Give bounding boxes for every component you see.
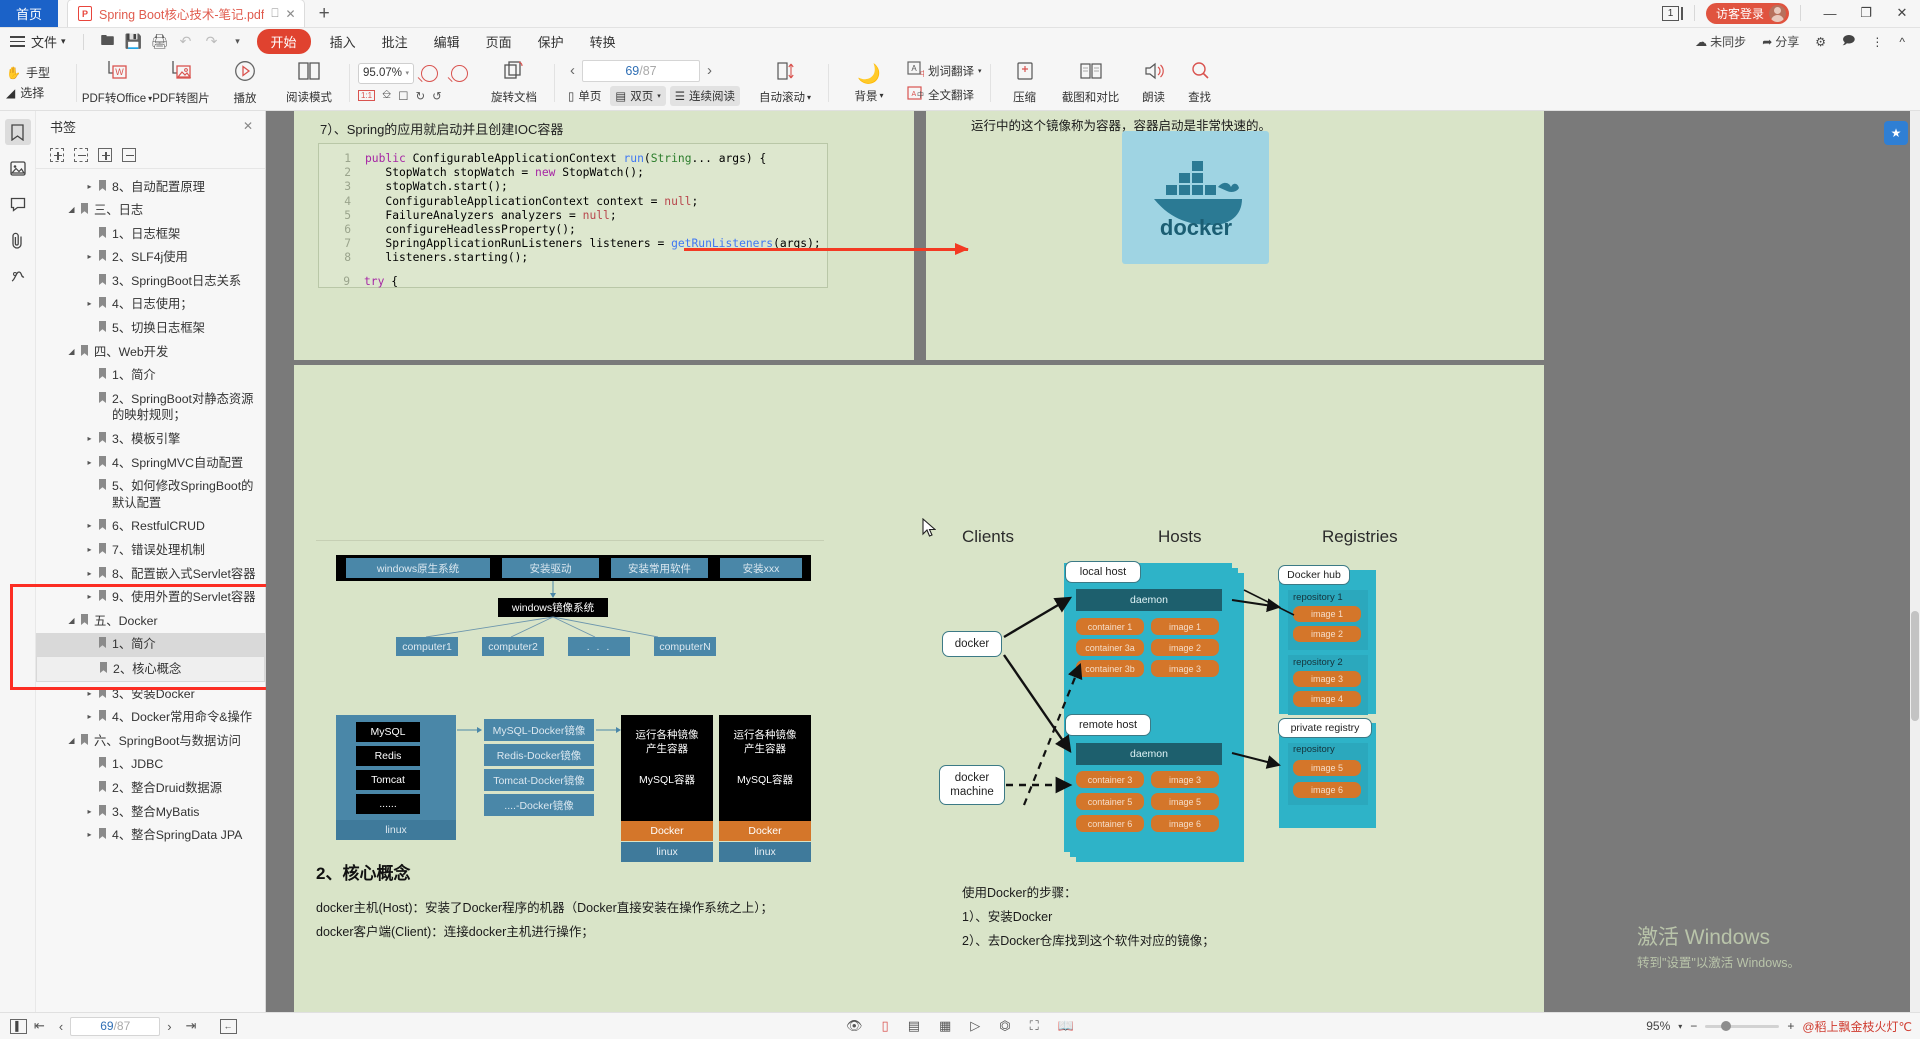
zoom-out-icon[interactable] (421, 65, 438, 82)
read-mode-label: 阅读模式 (286, 89, 332, 105)
bookmark-flag-icon (80, 203, 91, 216)
no-triangle (84, 320, 95, 323)
reading-icon[interactable]: 📖 (1051, 1018, 1081, 1034)
play-label: 播放 (234, 90, 257, 106)
svg-text:W: W (115, 67, 124, 77)
bookmark-flag-icon (98, 274, 109, 287)
step-2: 2）、去Docker仓库找到这个软件对应的镜像； (962, 930, 1215, 949)
code-block: 1public ConfigurableApplicationContext r… (318, 143, 828, 288)
divider (990, 64, 991, 102)
rail-bookmark-icon[interactable] (5, 119, 31, 145)
container-box-1-sub: MySQL容器 (621, 756, 713, 787)
word-translate-icon: A中 (907, 61, 924, 80)
bookmark-item[interactable]: ◢六、SpringBoot与数据访问 (36, 729, 265, 753)
arch-local-image-2: image 2 (1151, 639, 1219, 656)
hand-tool[interactable]: ✋ 手型 (6, 64, 50, 81)
divider (76, 64, 77, 102)
arch-remote-container-6: container 6 (1076, 815, 1144, 832)
search-icon (1188, 60, 1212, 87)
bookmark-flag-icon (98, 297, 109, 310)
expand-triangle-icon[interactable]: ▸ (84, 249, 95, 263)
double-page-mode[interactable]: ▤ 双页 ▾ (610, 86, 665, 106)
home-tab[interactable]: 首页 (0, 0, 58, 27)
vertical-scrollbar[interactable] (1910, 111, 1920, 1012)
single-page-icon: ▯ (568, 89, 574, 103)
arch-local-image-1: image 1 (1151, 618, 1219, 635)
redo-icon[interactable]: ↷ (199, 31, 225, 53)
rotate-document-icon (501, 60, 527, 87)
quick-access-chevron-icon[interactable]: ▾ (225, 31, 251, 53)
collapse-triangle-icon[interactable]: ◢ (66, 613, 77, 627)
sync-status[interactable]: ☁ 未同步 (1688, 33, 1753, 50)
tab-count-badge[interactable]: 1 (1662, 6, 1679, 21)
ai-assistant-button[interactable]: ★ (1884, 121, 1908, 145)
sync-status-label: 未同步 (1710, 33, 1746, 50)
chevron-down-icon[interactable]: ▾ (1678, 1022, 1682, 1031)
guest-login-button[interactable]: 访客登录 (1706, 3, 1789, 24)
find-button[interactable]: 查找 (1177, 60, 1223, 105)
bookmark-flag-icon (98, 479, 109, 492)
fit-width-icon[interactable]: ☐ (398, 89, 408, 103)
undo-icon[interactable]: ↶ (173, 31, 199, 53)
bookmark-panel-title: 书签 (50, 117, 76, 136)
arch-local-image-3: image 3 (1151, 660, 1219, 677)
bookmark-flag-icon (80, 734, 91, 747)
continuous-label: 连续阅读 (689, 88, 735, 104)
rotate-left-icon[interactable]: ↻ (416, 89, 426, 103)
expand-triangle-icon[interactable]: ▸ (84, 455, 95, 469)
bookmark-flag-icon (99, 662, 110, 675)
fit-mode-group: 1:1 ⎒ ☐ ↻ ↺ (358, 89, 468, 103)
diagram-divider (316, 540, 824, 541)
arch-local-host-label: local host (1065, 561, 1141, 583)
double-page-icon: ▤ (615, 89, 626, 103)
bookmark-flag-icon (98, 781, 109, 794)
no-triangle (84, 226, 95, 229)
bookmark-item[interactable]: 2、整合Druid数据源 (36, 776, 265, 800)
bookmark-label: 2、SLF4j使用 (112, 249, 259, 266)
page-current: 69 (625, 64, 639, 78)
expand-triangle-icon[interactable]: ▸ (84, 179, 95, 193)
diagram-box-install-xxx: 安装xxx (720, 558, 802, 578)
pdf-to-office-button[interactable]: W PDF转Office▾ (85, 59, 149, 106)
arch-remote-image-3: image 3 (1151, 771, 1219, 788)
bookmark-item[interactable]: 5、如何修改SpringBoot的默认配置 (36, 475, 265, 515)
arch-repo-2-image-4: image 4 (1293, 691, 1361, 707)
prev-page-button[interactable]: ‹ (52, 1019, 70, 1034)
bookmark-label: 4、日志使用； (112, 296, 259, 313)
diagram-box-install-software: 安装常用软件 (611, 558, 708, 578)
bookmark-item[interactable]: ▸2、SLF4j使用 (36, 246, 265, 270)
arch-client-docker-machine-l2: machine (950, 785, 993, 799)
bookmark-item[interactable]: ▸4、Docker常用命令&操作 (36, 706, 265, 730)
tab-insert[interactable]: 插入 (317, 32, 369, 51)
expand-triangle-icon[interactable]: ▸ (84, 589, 95, 603)
diagram-container-box-1: 运行各种镜像产生容器 MySQL容器 (621, 715, 713, 821)
tab-protect[interactable]: 保护 (525, 32, 577, 51)
tab-annotate[interactable]: 批注 (369, 32, 421, 51)
red-annotation-arrow (684, 248, 968, 251)
bookmark-label: 5、切换日志框架 (112, 320, 259, 337)
bookmark-item[interactable]: ▸4、整合SpringData JPA (36, 824, 265, 848)
bookmark-label: 1、简介 (112, 367, 259, 384)
bookmark-label: 1、JDBC (112, 756, 259, 773)
close-panel-icon[interactable]: ✕ (243, 119, 253, 133)
page-number-input[interactable]: 69 /87 (582, 60, 700, 82)
container-box-1-docker: Docker (621, 821, 713, 841)
read-mode-button[interactable]: 阅读模式 (277, 60, 341, 105)
diagram-stack-linux-label: linux (336, 820, 456, 840)
full-translate-label: 全文翻译 (928, 87, 974, 103)
bookmark-item[interactable]: 1、简介 (36, 633, 265, 657)
select-tool[interactable]: ◢ 选择 (6, 84, 44, 101)
auto-scroll-button[interactable]: 自动滚动▾ (750, 60, 820, 105)
auto-scroll-label: 自动滚动▾ (759, 89, 811, 105)
pdf-page-main: windows原生系统 安装驱动 安装常用软件 安装xxx windows镜像系… (294, 365, 1544, 1012)
add-bookmark-icon[interactable] (98, 148, 112, 162)
feedback-icon[interactable]: 🗩 (1835, 31, 1862, 52)
status-page-input[interactable]: 69 /87 (70, 1017, 160, 1036)
arch-private-registry-label: private registry (1278, 718, 1372, 738)
double-page-view-icon[interactable]: ▤ (901, 1018, 927, 1034)
bookmark-label: 4、整合SpringData JPA (112, 827, 259, 844)
expand-triangle-icon[interactable]: ▸ (84, 827, 95, 841)
zoom-in-button[interactable]: + (1787, 1019, 1794, 1033)
first-page-button[interactable]: ⇤ (27, 1018, 52, 1034)
avatar (1769, 5, 1786, 22)
diagram-box-computer2: computer2 (482, 637, 544, 656)
code-line: 4 ConfigurableApplicationContext context… (325, 195, 827, 209)
no-triangle (84, 367, 95, 370)
single-page-mode[interactable]: ▯ 单页 (563, 86, 606, 106)
monitor-icon[interactable]: ⎕ (271, 6, 278, 21)
expand-triangle-icon[interactable]: ▸ (84, 518, 95, 532)
chevron-down-icon: ▾ (657, 92, 661, 100)
bookmark-item[interactable]: ▸7、错误处理机制 (36, 539, 265, 563)
open-folder-icon[interactable]: 🖿 (95, 31, 121, 53)
docker-logo-text: docker (1159, 215, 1232, 237)
find-label: 查找 (1188, 89, 1211, 105)
more-options-icon[interactable]: ⋮ (1864, 35, 1890, 49)
menu-bar: 文件 ▾ 🖿 💾 🖨 ↶ ↷ ▾ 开始 插入 批注 编辑 页面 保护 转换 ☁ … (0, 28, 1920, 55)
arch-repo-3-label: repository (1293, 744, 1335, 755)
page-view-modes: ▯ 单页 ▤ 双页 ▾ ☰ 连续阅读 (563, 86, 740, 106)
bookmark-label: 6、RestfulCRUD (112, 518, 259, 535)
presentation-icon[interactable]: ▷ (963, 1018, 987, 1034)
full-translate-icon: A中 (907, 86, 924, 104)
diagram-stack-mysql: MySQL (356, 722, 420, 742)
collapse-all-icon[interactable] (74, 148, 88, 162)
menu-hamburger-icon[interactable] (10, 36, 25, 47)
read-aloud-label: 朗读 (1142, 89, 1165, 105)
arch-col-registries: Registries (1322, 527, 1398, 547)
scrollbar-thumb[interactable] (1911, 611, 1919, 721)
new-tab-button[interactable]: + (319, 3, 330, 27)
bookmark-item[interactable]: ▸4、日志使用； (36, 293, 265, 317)
previous-page-button[interactable]: ‹ (563, 62, 582, 79)
bookmark-item[interactable]: 3、SpringBoot日志关系 (36, 269, 265, 293)
close-window-button[interactable]: ✕ (1884, 0, 1920, 27)
bookmark-panel: 书签 ✕ ▸8、自动配置原理◢三、日志1、日志框架▸2、SLF4j使用3、Spr… (36, 111, 266, 1012)
back-navigation-icon[interactable]: ← (220, 1019, 237, 1034)
bookmark-flag-icon (98, 180, 109, 193)
speaker-icon (1142, 60, 1166, 87)
background-label: 背景▾ (855, 88, 884, 104)
full-translate-button[interactable]: A中 全文翻译 (907, 86, 982, 104)
next-page-button[interactable]: › (700, 62, 719, 79)
bookmark-label: 2、SpringBoot对静态资源的映射规则； (112, 391, 259, 424)
bookmark-flag-icon (80, 345, 91, 358)
divider (828, 64, 829, 102)
bookmark-toolbar (36, 141, 265, 169)
bookmark-item[interactable]: ▸6、RestfulCRUD (36, 515, 265, 539)
no-triangle (84, 478, 95, 481)
title-bar: 首页 P Spring Boot核心技术-笔记.pdf ⎕ ✕ + 1 访客登录… (0, 0, 1920, 28)
arch-repo-3-image-6: image 6 (1293, 782, 1361, 798)
collapse-ribbon-icon[interactable]: ^ (1892, 35, 1912, 49)
expand-triangle-icon[interactable]: ▸ (84, 804, 95, 818)
main-toolbar: ✋ 手型 ◢ 选择 W PDF转Office▾ PDF转图片 播放 阅读模式 (0, 55, 1920, 111)
eye-view-icon[interactable]: 👁 (839, 1018, 870, 1034)
read-aloud-button[interactable]: 朗读 (1131, 60, 1177, 105)
pdf-file-icon: P (78, 6, 92, 21)
svg-text:中: 中 (920, 69, 924, 77)
diagram-box-computer1: computer1 (396, 637, 458, 656)
tab-page[interactable]: 页面 (473, 32, 525, 51)
zoom-level-value: 95.07% (363, 67, 402, 79)
bookmark-label: 1、简介 (112, 636, 259, 653)
bookmark-flag-icon (98, 757, 109, 770)
share-button[interactable]: ➦ 分享 (1755, 33, 1806, 50)
bookmark-item[interactable]: ▸4、SpringMVC自动配置 (36, 451, 265, 475)
play-button[interactable]: 播放 (213, 59, 277, 106)
bookmark-flag-icon (98, 250, 109, 263)
expand-triangle-icon[interactable]: ▸ (84, 431, 95, 445)
rail-signature-icon[interactable] (5, 263, 31, 289)
bookmark-label: 4、Docker常用命令&操作 (112, 709, 259, 726)
bookmark-item[interactable]: ◢五、Docker (36, 609, 265, 633)
bookmark-item[interactable]: 2、SpringBoot对静态资源的映射规则； (36, 387, 265, 427)
status-zoom-value[interactable]: 95% (1646, 1019, 1670, 1033)
bookmark-item[interactable]: 1、JDBC (36, 753, 265, 777)
collapse-triangle-icon[interactable]: ◢ (66, 733, 77, 747)
diagram-image-redis: Redis-Docker镜像 (484, 744, 594, 766)
expand-triangle-icon[interactable]: ▸ (84, 296, 95, 310)
paragraph-docker-client: docker客户端(Client)：连接docker主机进行操作； (316, 921, 594, 940)
arch-remote-container-5: container 5 (1076, 793, 1144, 810)
zoom-level-input[interactable]: 95.07% ▾ (358, 63, 414, 84)
page-total: /87 (639, 64, 656, 78)
status-page-total: /87 (114, 1019, 131, 1033)
close-tab-icon[interactable]: ✕ (286, 7, 296, 21)
status-bar: ▌ ⇤ ‹ 69 /87 › ⇥ ← 👁 ▯ ▤ ▦ ▷ ⏣ ⛶ 📖 95% ▾… (0, 1012, 1920, 1039)
arch-repo-1-label: repository 1 (1293, 592, 1343, 603)
document-viewport[interactable]: 7）、Spring的应用就启动并且创建IOC容器 1public Configu… (266, 111, 1920, 1012)
continuous-view-icon[interactable]: ▦ (932, 1018, 958, 1034)
arch-client-docker-machine-l1: docker (955, 771, 990, 785)
code-line-9: 9try { (324, 275, 398, 289)
share-icon: ➦ (1762, 35, 1772, 49)
arch-client-docker: docker (942, 631, 1002, 657)
compress-icon (1013, 60, 1037, 87)
diagram-box-windows-mirror: windows镜像系统 (498, 598, 608, 617)
print-icon[interactable]: 🖨 (147, 31, 173, 53)
arch-local-container-3a: container 3a (1076, 639, 1144, 656)
no-triangle (84, 780, 95, 783)
expand-triangle-icon[interactable]: ▸ (84, 709, 95, 723)
status-right-tools: 95% ▾ − + @稻上飘金枝火灯℃ (1646, 1018, 1912, 1035)
tab-edit[interactable]: 编辑 (421, 32, 473, 51)
paragraph-docker-host: docker主机(Host)：安装了Docker程序的机器（Docker直接安装… (316, 897, 773, 916)
pdf-to-image-button[interactable]: PDF转图片 (149, 59, 213, 106)
bookmark-item[interactable]: 1、简介 (36, 364, 265, 388)
brand-watermark: @稻上飘金枝火灯℃ (1802, 1018, 1912, 1035)
bookmark-item[interactable]: 2、核心概念 (36, 656, 265, 682)
bookmark-item[interactable]: ◢三、日志 (36, 199, 265, 223)
zoom-out-button[interactable]: − (1690, 1019, 1697, 1033)
chevron-down-icon: ▾ (978, 67, 982, 75)
toggle-sidebar-icon[interactable]: ▌ (10, 1019, 27, 1034)
last-page-button[interactable]: ⇥ (179, 1018, 204, 1034)
minimize-button[interactable]: — (1812, 0, 1848, 27)
diagram-box-computerN: computerN (654, 637, 716, 656)
pdf-to-office-label: PDF转Office▾ (82, 90, 152, 106)
maximize-button[interactable]: ❐ (1848, 0, 1884, 27)
actual-size-icon[interactable]: 1:1 (358, 90, 375, 101)
bookmark-flag-icon (98, 567, 109, 580)
bookmark-label: 5、如何修改SpringBoot的默认配置 (112, 478, 259, 511)
crop-icon[interactable]: ⏣ (992, 1018, 1017, 1034)
rotate-document-button[interactable]: 旋转文档 (482, 60, 546, 105)
bookmark-label: 7、错误处理机制 (112, 542, 259, 559)
bookmark-label: 五、Docker (94, 613, 259, 630)
pdf-to-image-icon (168, 59, 194, 88)
bookmark-flag-icon (98, 687, 109, 700)
bookmark-item[interactable]: ◢四、Web开发 (36, 340, 265, 364)
rail-comment-icon[interactable] (5, 191, 31, 217)
bookmark-item[interactable]: ▸3、安装Docker (36, 682, 265, 706)
word-translate-button[interactable]: A中 划词翻译 ▾ (907, 61, 982, 80)
word-translate-label: 划词翻译 (928, 63, 974, 79)
svg-text:中: 中 (917, 90, 924, 99)
bookmark-flag-icon (98, 637, 109, 650)
arch-repo-3-image-5: image 5 (1293, 760, 1361, 776)
book-icon (296, 60, 322, 87)
settings-gear-icon[interactable]: ⚙ (1808, 35, 1833, 49)
bookmark-item[interactable]: ▸9、使用外置的Servlet容器 (36, 586, 265, 610)
code-line: 8 listeners.starting(); (325, 251, 827, 265)
divider (349, 64, 350, 102)
single-page-view-icon[interactable]: ▯ (875, 1018, 896, 1034)
bookmark-item[interactable]: ▸8、自动配置原理 (36, 175, 265, 199)
bookmark-item[interactable]: 5、切换日志框架 (36, 317, 265, 341)
pdf-page-left: 7）、Spring的应用就启动并且创建IOC容器 1public Configu… (294, 111, 914, 360)
container-box-2-sub: MySQL容器 (719, 756, 811, 787)
arch-local-container-1: container 1 (1076, 618, 1144, 635)
bookmark-flag-icon (98, 456, 109, 469)
bookmark-item[interactable]: 1、日志框架 (36, 222, 265, 246)
bookmark-flag-icon (98, 543, 109, 556)
rotate-right-icon[interactable]: ↺ (432, 89, 442, 103)
arch-remote-host-label: remote host (1065, 714, 1151, 736)
tab-convert[interactable]: 转换 (577, 32, 629, 51)
document-tab[interactable]: P Spring Boot核心技术-笔记.pdf ⎕ ✕ (67, 0, 305, 27)
bookmark-flag-icon (98, 368, 109, 381)
svg-text:A: A (911, 64, 917, 73)
bookmark-flag-icon (98, 227, 109, 240)
bookmark-flag-icon (98, 805, 109, 818)
compress-label: 压缩 (1013, 89, 1036, 105)
bookmark-flag-icon (98, 710, 109, 723)
bookmark-flag-icon (98, 519, 109, 532)
container-box-2-docker: Docker (719, 821, 811, 841)
arch-repo-1-image-1: image 1 (1293, 606, 1361, 622)
expand-triangle-icon[interactable]: ▸ (84, 566, 95, 580)
background-button[interactable]: 🌙 背景▾ (837, 62, 901, 104)
compress-button[interactable]: 压缩 (999, 60, 1051, 105)
save-icon[interactable]: 💾 (121, 31, 147, 53)
bookmark-label: 六、SpringBoot与数据访问 (94, 733, 259, 750)
rail-thumbnail-icon[interactable] (5, 155, 31, 181)
diagram-stack-redis: Redis (356, 746, 420, 766)
bookmark-flag-icon (80, 614, 91, 627)
collapse-triangle-icon[interactable]: ◢ (66, 202, 77, 216)
file-menu-button[interactable]: 文件 ▾ (31, 32, 72, 51)
bookmark-label: 8、配置嵌入式Servlet容器 (112, 566, 259, 583)
expand-triangle-icon[interactable]: ▸ (84, 542, 95, 556)
windows-activation-watermark: 激活 Windows 转到"设置"以激活 Windows。 (1637, 923, 1800, 972)
collapse-triangle-icon[interactable]: ◢ (66, 344, 77, 358)
no-triangle (84, 636, 95, 639)
bookmark-item[interactable]: ▸8、配置嵌入式Servlet容器 (36, 562, 265, 586)
diagram-stack-tomcat: Tomcat (356, 770, 420, 790)
screenshot-compare-label: 截图和对比 (1062, 89, 1120, 105)
screenshot-icon (1078, 60, 1104, 87)
mouse-cursor (922, 518, 936, 538)
chevron-down-icon: ▾ (405, 69, 409, 77)
arch-remote-container-3: container 3 (1076, 771, 1144, 788)
bookmark-label: 三、日志 (94, 202, 259, 219)
zoom-in-icon[interactable] (451, 65, 468, 82)
bookmark-list: ▸8、自动配置原理◢三、日志1、日志框架▸2、SLF4j使用3、SpringBo… (36, 169, 265, 1012)
screenshot-compare-button[interactable]: 截图和对比 (1051, 60, 1131, 105)
rail-attachment-icon[interactable] (5, 227, 31, 253)
diagram-image-more: ....-Docker镜像 (484, 794, 594, 816)
zoom-slider[interactable] (1705, 1025, 1779, 1028)
tab-list-icon[interactable] (1681, 7, 1683, 20)
diagram-stack-more: ...... (356, 794, 420, 814)
expand-triangle-icon[interactable]: ▸ (84, 686, 95, 700)
fullscreen-icon[interactable]: ⛶ (1023, 1018, 1046, 1034)
bookmark-panel-header: 书签 ✕ (36, 111, 265, 141)
bookmark-flag-icon (98, 828, 109, 841)
divider (1694, 5, 1695, 21)
side-rail (0, 111, 36, 1012)
bookmark-item[interactable]: ▸3、整合MyBatis (36, 800, 265, 824)
code-line: 1public ConfigurableApplicationContext r… (325, 152, 827, 166)
delete-bookmark-icon[interactable] (122, 148, 136, 162)
heading-core-concepts: 2、核心概念 (316, 859, 410, 884)
next-page-button[interactable]: › (160, 1019, 178, 1034)
svg-text:A: A (912, 91, 917, 98)
fit-page-icon[interactable]: ⎒ (382, 89, 391, 102)
expand-all-icon[interactable] (50, 148, 64, 162)
tab-start[interactable]: 开始 (257, 29, 311, 54)
arch-remote-image-6: image 6 (1151, 815, 1219, 832)
single-page-label: 单页 (578, 88, 601, 104)
continuous-read-mode[interactable]: ☰ 连续阅读 (670, 86, 740, 106)
bookmark-item[interactable]: ▸3、模板引擎 (36, 428, 265, 452)
